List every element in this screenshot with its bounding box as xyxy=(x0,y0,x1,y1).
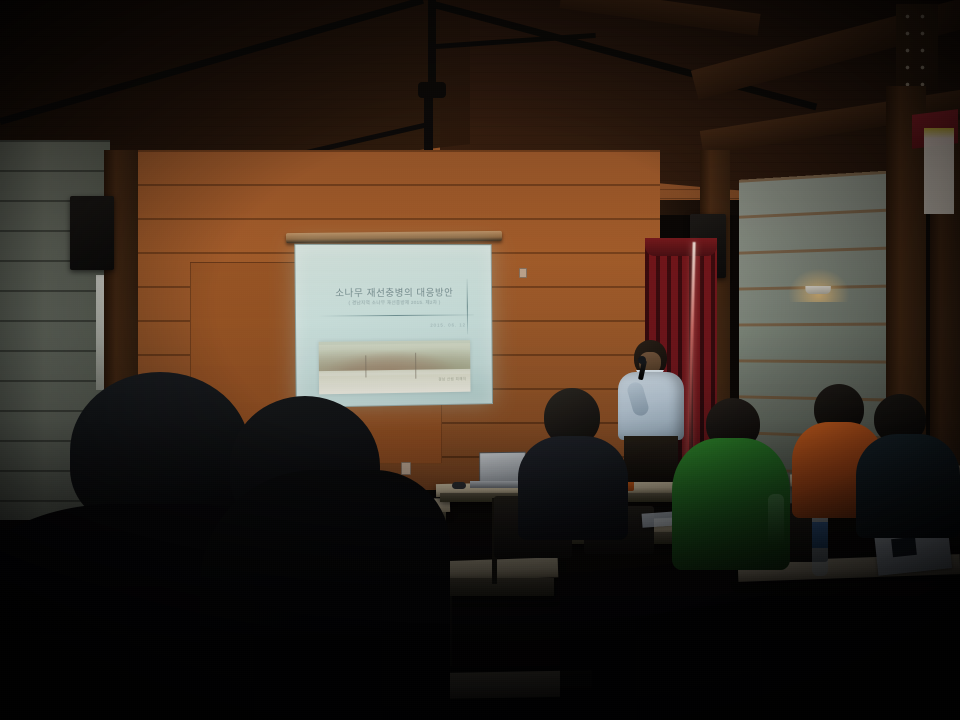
far-right-attendee xyxy=(856,394,960,534)
mid-center-attendee-torso xyxy=(518,436,628,540)
seminar-room-photo: 소나무 재선충병의 대응방안 ( 경남지역 소나무 재선충방제 2015. 제2… xyxy=(0,0,960,720)
slide-photo-pole-b xyxy=(415,353,416,379)
slide-photo: 경남 산림 피해지 xyxy=(319,340,471,394)
slide-divider xyxy=(318,314,473,316)
slide-subtitle: ( 경남지역 소나무 재선충방제 2015. 제2차 ) xyxy=(296,299,491,306)
mid-right-green-jacket xyxy=(672,398,790,568)
screen-roller-bar xyxy=(286,231,502,243)
mid-center-attendee xyxy=(518,388,628,538)
wall-outlet-secondary xyxy=(519,268,527,278)
handout-right-figure xyxy=(891,537,917,557)
slide-photo-hillside xyxy=(319,343,471,371)
slide-date: 2015. 06. 12 xyxy=(430,322,466,327)
curtain-valance xyxy=(645,238,717,256)
foreground-dark-mass-right xyxy=(560,596,960,720)
green-jacket-seam xyxy=(768,494,784,546)
laptop-mouse xyxy=(452,482,466,489)
hanging-banner xyxy=(924,128,954,214)
truss-vertical-strut xyxy=(428,0,436,90)
ceiling-speaker-left xyxy=(70,196,114,270)
wall-sconce-light xyxy=(805,286,830,294)
slide-photo-caption: 경남 산림 피해지 xyxy=(438,377,466,382)
front-center-torso xyxy=(200,470,450,720)
bolt-dots xyxy=(900,8,934,86)
slide-photo-pole-a xyxy=(365,355,366,377)
slide-title: 소나무 재선충병의 대응방안 xyxy=(296,285,491,300)
microphone-head xyxy=(638,356,646,364)
front-center-silhouette xyxy=(200,470,450,720)
far-right-attendee-torso xyxy=(856,434,960,538)
water-bottle-label xyxy=(812,522,828,548)
presenter-trousers xyxy=(624,436,678,482)
